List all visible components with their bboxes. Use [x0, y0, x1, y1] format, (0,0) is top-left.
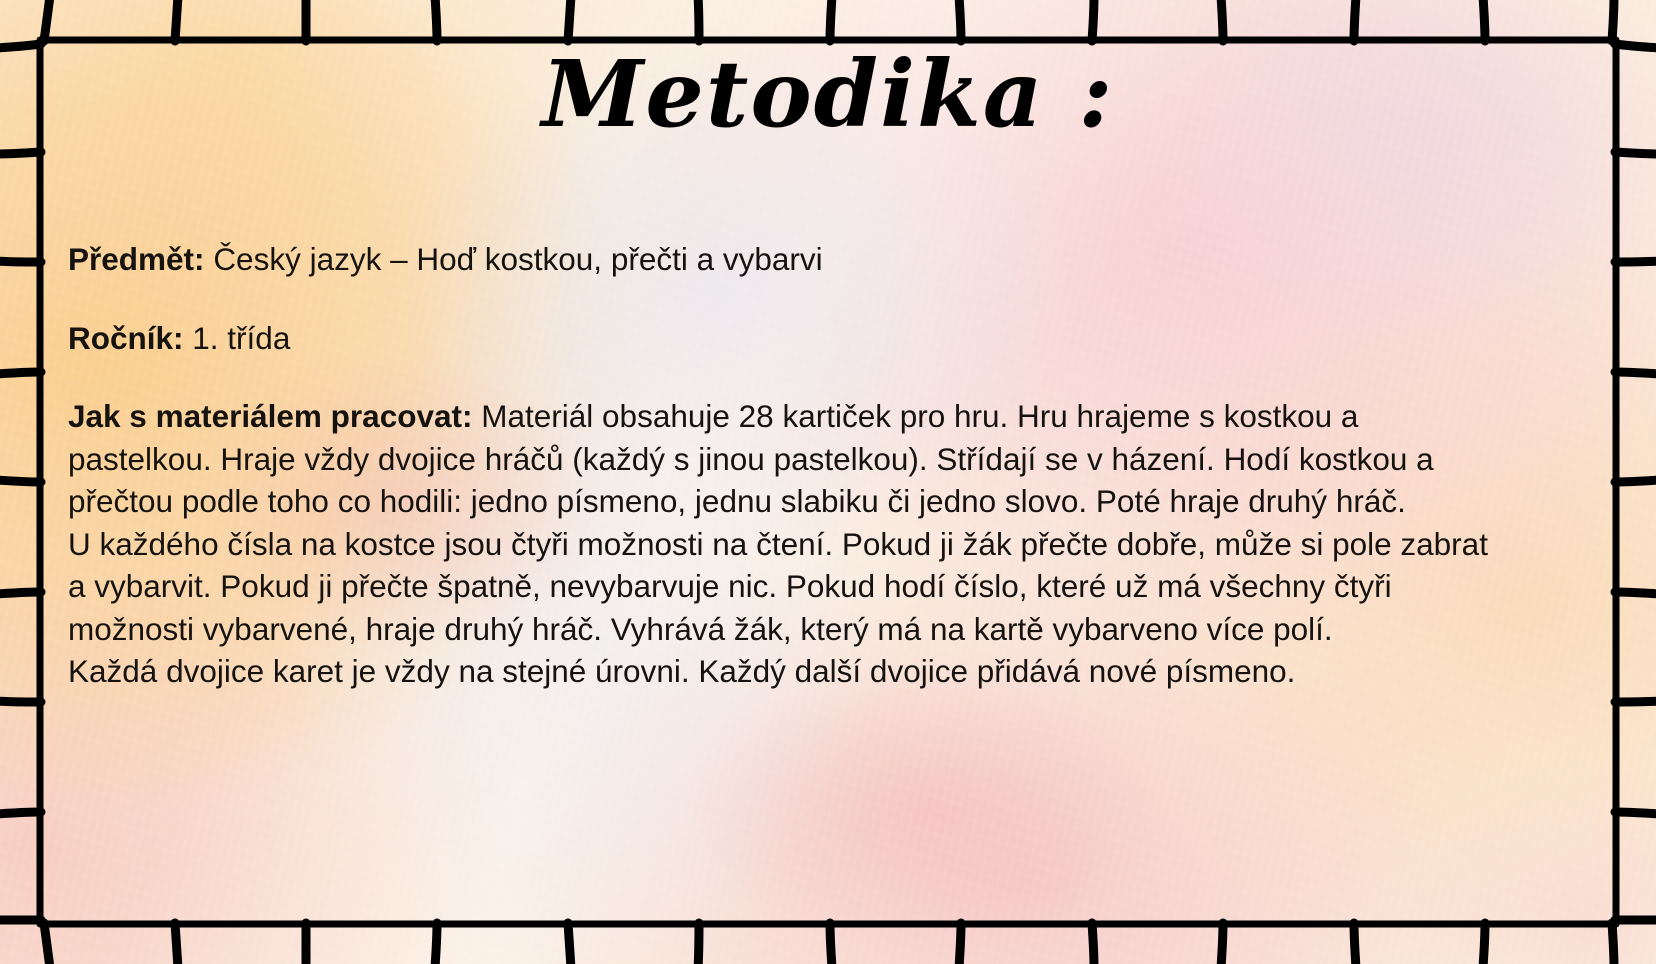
field-predmet-label: Předmět: — [68, 241, 205, 277]
field-rocnik: Ročník: 1. třída — [68, 317, 1504, 360]
page-content: Metodika : Předmět: Český jazyk – Hoď ko… — [0, 0, 1656, 964]
metodika-body: Předmět: Český jazyk – Hoď kostkou, přeč… — [68, 238, 1504, 693]
instructions-label: Jak s materiálem pracovat: — [68, 398, 472, 434]
instructions-text-2: U každého čísla na kostce jsou čtyři mož… — [68, 526, 1488, 647]
instructions-paragraph-2: U každého čísla na kostce jsou čtyři mož… — [68, 523, 1504, 651]
field-rocnik-label: Ročník: — [68, 320, 184, 356]
metodika-page: Metodika : Předmět: Český jazyk – Hoď ko… — [0, 0, 1656, 964]
instructions-paragraph-3: Každá dvojice karet je vždy na stejné úr… — [68, 650, 1504, 693]
field-rocnik-value: 1. třída — [192, 320, 290, 356]
instructions-text-3: Každá dvojice karet je vždy na stejné úr… — [68, 653, 1295, 689]
field-predmet-value: Český jazyk – Hoď kostkou, přečti a vyba… — [213, 241, 822, 277]
field-predmet: Předmět: Český jazyk – Hoď kostkou, přeč… — [68, 238, 1504, 281]
instructions-paragraph-1: Jak s materiálem pracovat: Materiál obsa… — [68, 395, 1504, 523]
page-title: Metodika : — [0, 44, 1656, 145]
